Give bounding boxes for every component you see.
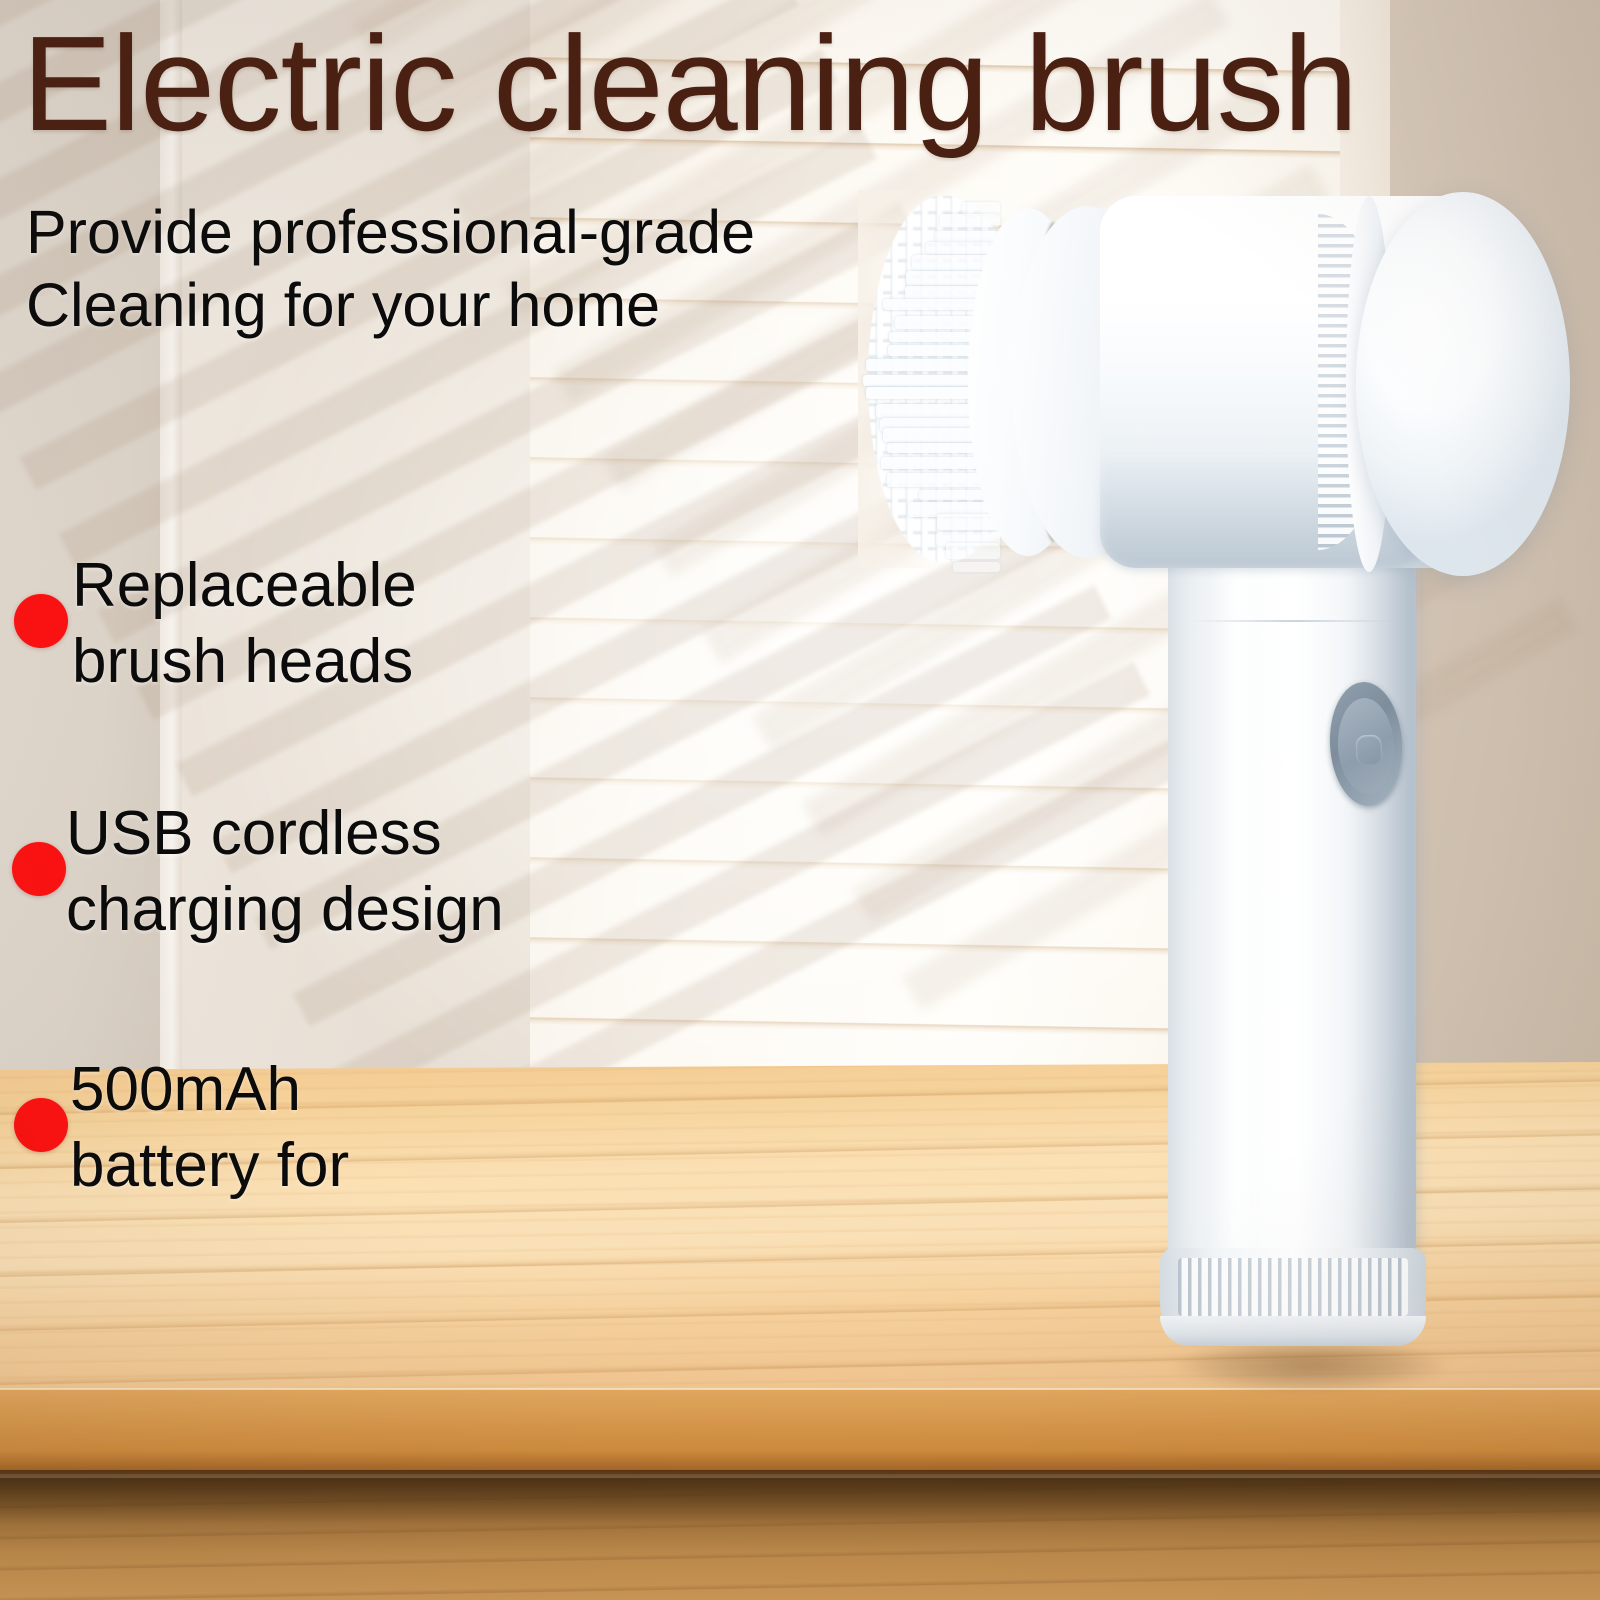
brush-bristle-tuft	[940, 214, 1000, 227]
motor-end-cap	[1356, 192, 1570, 576]
brush-bristle-tuft	[946, 543, 1000, 559]
bullet-dot-icon	[12, 842, 66, 896]
bullet-dot-icon	[14, 1098, 68, 1152]
handle-base-lip	[1160, 1316, 1426, 1346]
feature-line-2: brush heads	[72, 624, 417, 700]
feature-line-1: 500mAh	[70, 1052, 349, 1128]
bullet-dot-icon	[14, 594, 68, 648]
feature-line-2: battery for	[70, 1128, 349, 1204]
brush-bristle-tuft	[953, 562, 1000, 572]
feature-line-1: Replaceable	[72, 548, 417, 624]
handle-highlight	[1212, 536, 1266, 1316]
feature-text: USB cordless charging design	[66, 796, 504, 947]
brush-bristle-tuft	[935, 231, 1000, 241]
feature-text: 500mAh battery for	[70, 1052, 349, 1203]
feature-line-2: charging design	[66, 872, 504, 948]
power-button-icon[interactable]	[1355, 734, 1383, 765]
feature-line-1: USB cordless	[66, 796, 504, 872]
handle-shading	[1352, 540, 1418, 1310]
handle-base-flutes	[1178, 1258, 1408, 1316]
feature-list: Replaceable brush heads USB cordless cha…	[0, 0, 760, 1600]
product-poster: Electric cleaning brush Provide professi…	[0, 0, 1600, 1600]
handle-seam-line	[1190, 620, 1400, 622]
feature-text: Replaceable brush heads	[72, 548, 417, 699]
